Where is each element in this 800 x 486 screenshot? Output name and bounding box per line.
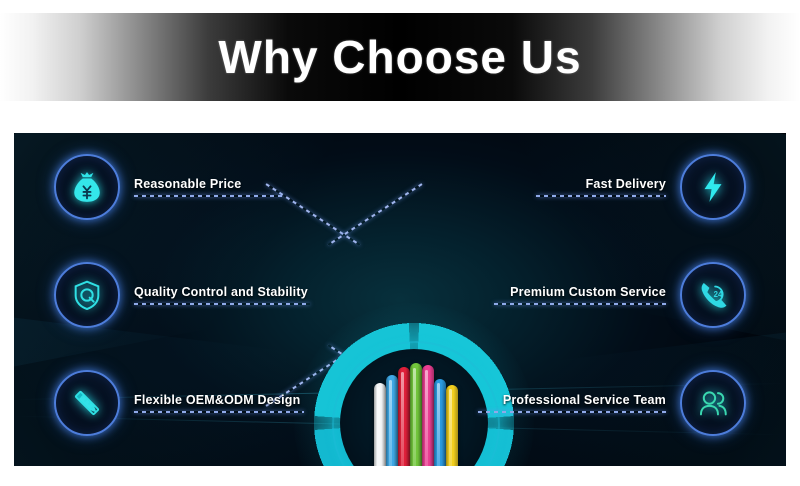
feature-item-professional-service-team[interactable]: Professional Service Team: [478, 371, 746, 435]
page-title: Why Choose Us: [218, 30, 581, 84]
feature-label-block: Premium Custom Service: [494, 285, 666, 305]
why-choose-us-banner: Why Choose Us: [0, 0, 800, 486]
pen-ruler-icon: [54, 370, 120, 436]
roll-blue: [434, 379, 446, 466]
feature-label: Fast Delivery: [536, 177, 666, 195]
connector-dashed-line: [134, 303, 310, 305]
feature-item-quality-control[interactable]: Quality Control and Stability: [54, 263, 310, 327]
feature-label: Premium Custom Service: [494, 285, 666, 303]
feature-label-block: Reasonable Price: [134, 177, 282, 197]
connector-dashed-line: [536, 195, 666, 197]
feature-label-block: Quality Control and Stability: [134, 285, 310, 305]
feature-item-flexible-oem-odm[interactable]: Flexible OEM&ODM Design: [54, 371, 304, 435]
feature-item-reasonable-price[interactable]: Reasonable Price: [54, 155, 282, 219]
roll-pink: [422, 365, 434, 466]
roll-yellow: [446, 385, 458, 466]
feature-label: Professional Service Team: [478, 393, 666, 411]
feature-label: Reasonable Price: [134, 177, 282, 195]
connector-dashed-line: [494, 303, 666, 305]
connector-dashed-line: [134, 195, 282, 197]
money-bag-yen-icon: [54, 154, 120, 220]
roll-red: [398, 367, 410, 466]
feature-label: Quality Control and Stability: [134, 285, 310, 303]
roll-lightblue: [386, 375, 398, 466]
shield-q-icon: [54, 262, 120, 328]
feature-item-fast-delivery[interactable]: Fast Delivery: [536, 155, 746, 219]
roll-green: [410, 363, 422, 466]
lightning-bolt-icon: [680, 154, 746, 220]
users-group-icon: [680, 370, 746, 436]
connector-dashed-line: [478, 411, 666, 413]
feature-stage: Reasonable Price Quality Control and Sta…: [14, 133, 786, 466]
feature-label-block: Flexible OEM&ODM Design: [134, 393, 304, 413]
connector-dashed-line: [134, 411, 304, 413]
feature-label: Flexible OEM&ODM Design: [134, 393, 304, 411]
roll-stack: [364, 363, 468, 466]
phone-24h-icon: 24: [680, 262, 746, 328]
svg-text:24: 24: [714, 290, 723, 299]
feature-label-block: Fast Delivery: [536, 177, 666, 197]
feature-item-premium-custom-service[interactable]: 24 Premium Custom Service: [494, 263, 746, 327]
feature-label-block: Professional Service Team: [478, 393, 666, 413]
header-bar: Why Choose Us: [0, 13, 800, 101]
roll-white: [374, 383, 386, 466]
connector-right-top: [328, 183, 423, 246]
